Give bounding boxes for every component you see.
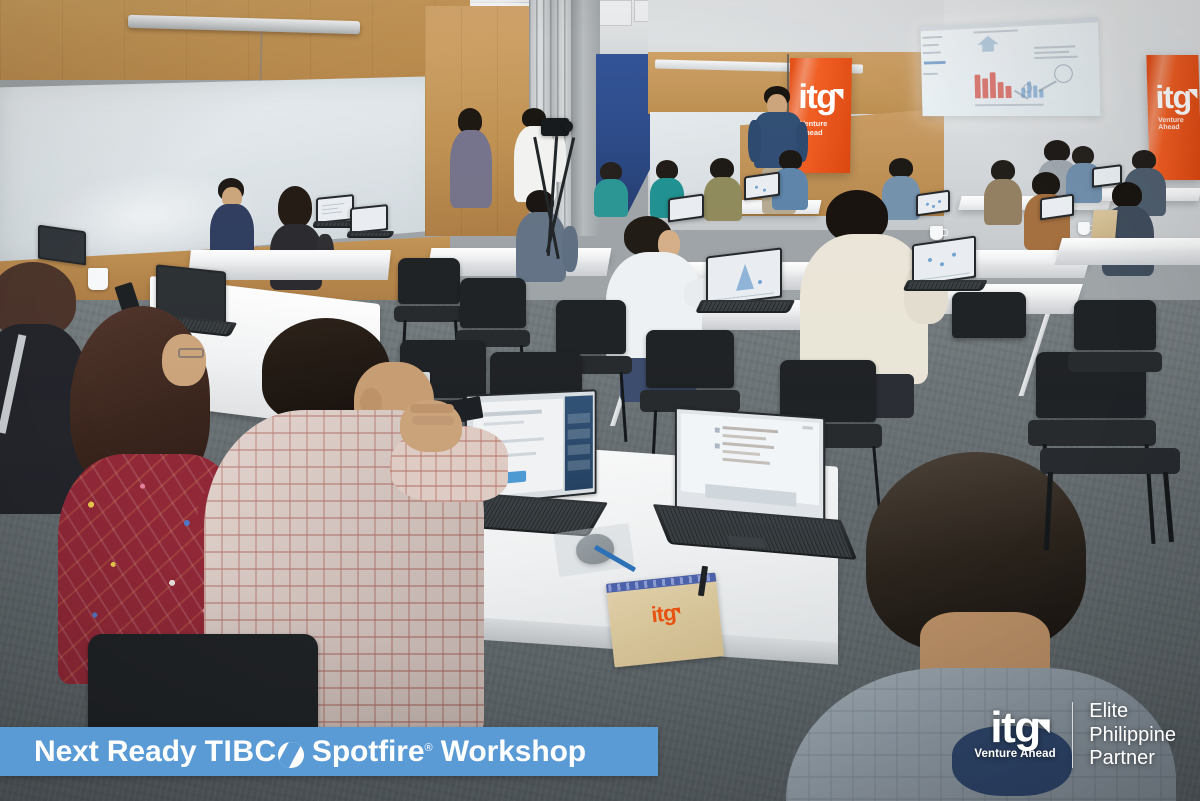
itg-logo-mark: itg — [990, 710, 1039, 746]
classroom-scene: itg Venture Ahead itg Venture Ahead — [0, 0, 1200, 801]
lockup-divider — [1072, 702, 1074, 768]
chart-visualization — [736, 263, 754, 291]
coffee-cup — [930, 226, 943, 240]
itg-logo-mark: itg — [1155, 83, 1191, 112]
itg-logo-mark: itg — [798, 82, 836, 113]
title-text: Next Ready TIBC Spotfire ® Workshop — [34, 735, 586, 769]
workshop-photo: itg Venture Ahead itg Venture Ahead — [0, 0, 1200, 801]
bar-chart — [974, 70, 1013, 99]
title-banner: Next Ready TIBC Spotfire ® Workshop — [0, 727, 658, 776]
product-name: Spotfire — [312, 735, 425, 769]
coffee-cup — [1078, 222, 1090, 235]
wood-wall-panel-upper — [0, 0, 470, 80]
itg-logo: itg Venture Ahead — [974, 710, 1055, 760]
tibco-wordmark: TIBC — [205, 735, 277, 769]
desk — [1058, 238, 1200, 253]
title-suffix: Workshop — [441, 735, 586, 769]
title-prefix: Next Ready — [34, 735, 196, 769]
partner-designation: Elite Philippine Partner — [1089, 700, 1176, 771]
tibco-logo: TIBC — [205, 735, 304, 769]
partner-line-2: Philippine — [1089, 724, 1176, 748]
partner-lockup: itg Venture Ahead Elite Philippine Partn… — [974, 700, 1176, 771]
coffee-cup — [88, 268, 108, 290]
partner-line-1: Elite — [1089, 700, 1176, 724]
scatter-plot — [1054, 64, 1073, 83]
projection-screen — [920, 17, 1100, 116]
branded-notebook: itg — [606, 572, 724, 667]
tibco-o-icon — [278, 742, 304, 768]
itg-tagline: Venture Ahead — [1158, 117, 1200, 131]
chart-thumbnail-icon — [977, 35, 998, 52]
partner-line-3: Partner — [1089, 747, 1176, 771]
itg-logo-mark: itg — [650, 603, 676, 626]
registered-trademark-symbol: ® — [424, 742, 432, 754]
scatter-plot — [1023, 84, 1032, 93]
desk — [189, 250, 391, 268]
